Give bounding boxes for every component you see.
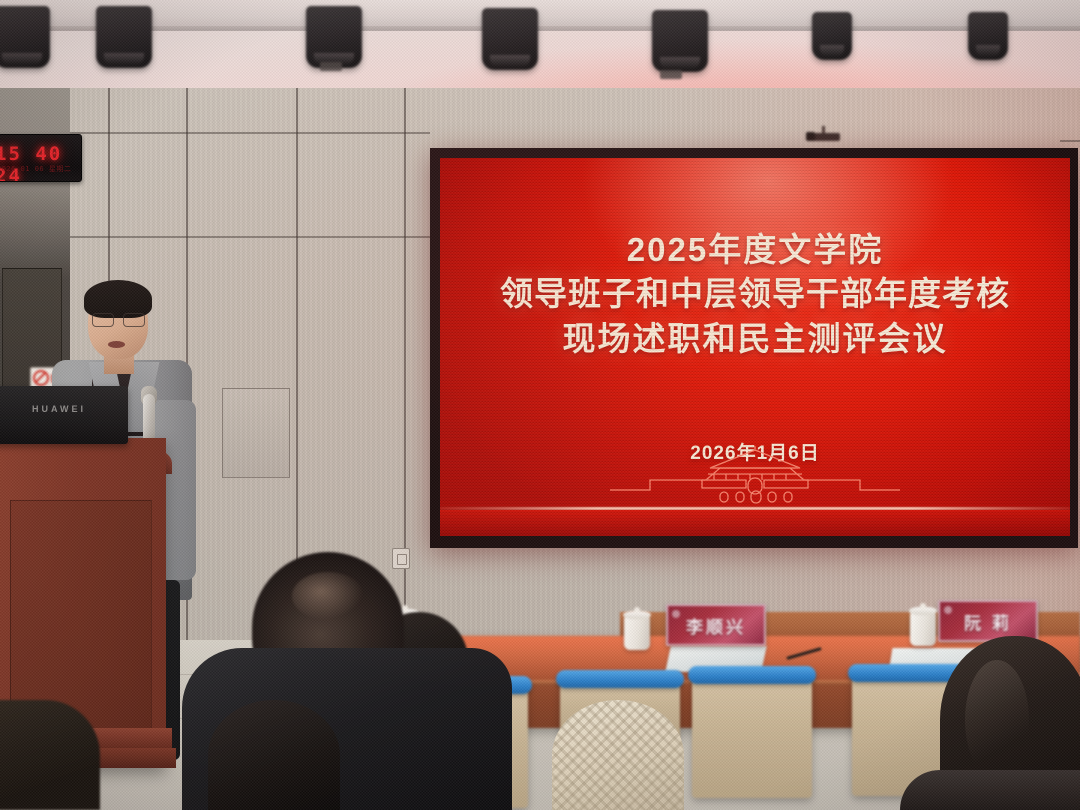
nameplate: 李顺兴: [666, 604, 766, 646]
camera-body: [812, 133, 840, 141]
audience-chair: [692, 678, 812, 798]
audience-head: [208, 700, 340, 810]
led-wall-clock: 15 40 24 2026 01 06 星期二: [0, 134, 82, 182]
eyeglasses-icon: [92, 313, 145, 325]
chair-headrest: [556, 670, 684, 688]
audience-body: [900, 770, 1080, 810]
spotlight-icon: [968, 12, 1008, 60]
power-outlet: [392, 548, 410, 569]
tea-cup: [910, 612, 936, 646]
screen-scanlines: [440, 158, 1070, 536]
laptop: HUAWEI: [0, 386, 128, 444]
conference-photo: 15 40 24 2026 01 06 星期二 2025年度文学院 领导班子和中…: [0, 0, 1080, 810]
nameplate-text: 李顺兴: [686, 613, 746, 638]
truss-edge: [0, 26, 1080, 31]
clock-digits: 15 40 24: [0, 143, 81, 182]
spotlight-icon: [96, 6, 152, 68]
led-display-screen: 2025年度文学院 领导班子和中层领导干部年度考核 现场述职和民主测评会议 20…: [440, 158, 1070, 536]
chair-headrest: [688, 666, 816, 684]
spotlight-icon: [812, 12, 852, 60]
audience-head: [0, 700, 100, 810]
led-display-frame: 2025年度文学院 领导班子和中层领导干部年度考核 现场述职和民主测评会议 20…: [430, 148, 1078, 548]
spotlight-icon: [0, 6, 50, 68]
head-highlight: [965, 660, 1029, 780]
podium-front-panel: [10, 500, 152, 732]
camera-lens: [806, 132, 815, 141]
clock-sublabel: 2026 01 06 星期二: [0, 164, 81, 174]
ceiling-camera-icon: [806, 126, 840, 142]
no-smoking-icon: [33, 370, 49, 386]
ceiling: [0, 0, 1080, 96]
laptop-brand-label: HUAWEI: [0, 404, 128, 414]
ceiling-vent: [320, 62, 342, 71]
knit-hat-texture: [552, 700, 684, 810]
tea-cup: [624, 616, 650, 650]
head-highlight: [292, 572, 364, 620]
wall-access-panel: [222, 388, 290, 478]
wall-seam: [1060, 140, 1080, 142]
spotlight-icon: [482, 8, 538, 70]
spotlight-icon: [652, 10, 708, 72]
nameplate-text: 阮 莉: [964, 609, 1012, 634]
ceiling-vent: [660, 70, 682, 79]
speaker-mouth: [108, 341, 125, 348]
spotlight-icon: [306, 6, 362, 68]
